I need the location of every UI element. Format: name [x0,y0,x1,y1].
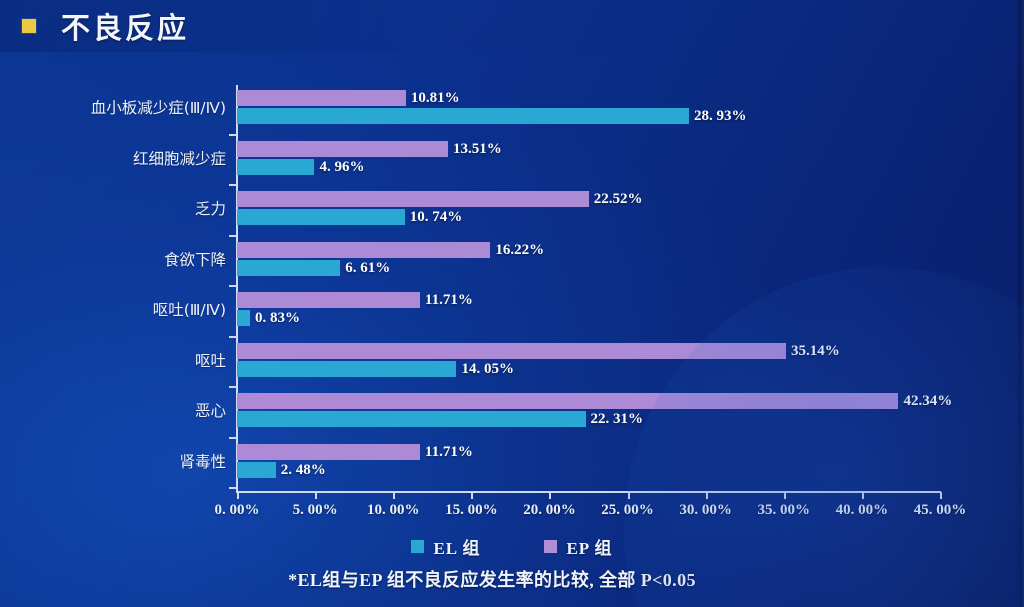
category-label: 肾毒性 [0,450,226,472]
bar-ep [237,141,448,157]
plot-area: 10.81%28. 93%13.51%4. 96%22.52%10. 74%16… [237,86,940,490]
y-axis-tick [229,184,236,186]
legend-label: EP 组 [566,534,612,559]
x-axis-tick-label: 15. 00% [445,502,498,519]
x-axis-tick [940,492,942,499]
bar-value-label: 22. 31% [586,411,644,427]
y-axis-tick [229,134,236,136]
x-axis-line [236,491,941,493]
chart-legend: EL 组EP 组 [0,534,1024,559]
x-axis-tick [471,492,473,499]
presentation-slide: 不良反应 血小板减少症(Ⅲ/Ⅳ)红细胞减少症乏力食欲下降呕吐(Ⅲ/Ⅳ)呕吐恶心肾… [0,0,1024,607]
y-axis-tick [229,437,236,439]
bar-ep [237,191,589,207]
x-axis-tick [784,492,786,499]
bar-value-label: 10. 74% [405,209,463,225]
category-label: 红细胞减少症 [0,147,226,169]
y-axis-tick [229,285,236,287]
bar-ep [237,343,786,359]
bar-value-label: 28. 93% [689,108,747,124]
category-label: 恶心 [0,399,226,421]
bar-value-label: 13.51% [448,141,502,157]
bar-el [237,411,586,427]
x-axis-tick [315,492,317,499]
y-axis-tick [229,487,236,489]
chart-footnote: *EL组与EP 组不良反应发生率的比较, 全部 P<0.05 [0,566,1024,592]
legend-label: EL 组 [433,534,480,559]
legend-item-el[interactable]: EL 组 [411,534,480,559]
bar-value-label: 22.52% [589,191,643,207]
bar-el [237,108,689,124]
bar-el [237,159,314,175]
bar-value-label: 11.71% [420,444,473,460]
slide-right-edge-strip [1017,0,1024,607]
bar-value-label: 10.81% [406,90,460,106]
legend-item-ep[interactable]: EP 组 [544,534,612,559]
x-axis-tick-labels: 0. 00%5. 00%10. 00%15. 00%20. 00%25. 00%… [0,502,1024,526]
x-axis-tick [862,492,864,499]
x-axis-tick-label: 35. 00% [758,502,811,519]
bar-ep [237,393,898,409]
category-label: 食欲下降 [0,248,226,270]
adverse-reactions-bar-chart: 血小板减少症(Ⅲ/Ⅳ)红细胞减少症乏力食欲下降呕吐(Ⅲ/Ⅳ)呕吐恶心肾毒性 10… [0,0,1024,607]
x-axis-tick-label: 30. 00% [679,502,732,519]
category-axis-labels: 血小板减少症(Ⅲ/Ⅳ)红细胞减少症乏力食欲下降呕吐(Ⅲ/Ⅳ)呕吐恶心肾毒性 [0,86,226,490]
y-axis-tick [229,235,236,237]
category-label: 呕吐 [0,349,226,371]
x-axis-tick [628,492,630,499]
bar-ep [237,90,406,106]
bar-value-label: 42.34% [898,393,952,409]
bar-value-label: 14. 05% [456,361,514,377]
x-axis-tick-label: 45. 00% [914,502,967,519]
category-label: 呕吐(Ⅲ/Ⅳ) [0,298,226,320]
bar-ep [237,242,490,258]
x-axis-tick-label: 40. 00% [836,502,889,519]
x-axis-tick-label: 10. 00% [367,502,420,519]
x-axis-tick [549,492,551,499]
legend-swatch-icon [544,540,557,553]
y-axis-tick [229,386,236,388]
bar-el [237,209,405,225]
x-axis-tick [706,492,708,499]
bar-value-label: 11.71% [420,292,473,308]
x-axis-tick [393,492,395,499]
bar-el [237,310,250,326]
y-axis-tick [229,336,236,338]
x-axis-tick-label: 20. 00% [523,502,576,519]
bar-value-label: 16.22% [490,242,544,258]
x-axis-tick [237,492,239,499]
category-label: 血小板减少症(Ⅲ/Ⅳ) [0,96,226,118]
bar-value-label: 35.14% [786,343,840,359]
bar-ep [237,292,420,308]
bar-value-label: 2. 48% [276,462,326,478]
bar-value-label: 4. 96% [314,159,364,175]
legend-swatch-icon [411,540,424,553]
category-label: 乏力 [0,197,226,219]
x-axis-tick-label: 25. 00% [601,502,654,519]
x-axis-tick-label: 5. 00% [293,502,338,519]
x-axis-tick-label: 0. 00% [215,502,260,519]
bar-el [237,361,456,377]
bar-el [237,260,340,276]
bar-value-label: 0. 83% [250,310,300,326]
bar-value-label: 6. 61% [340,260,390,276]
bar-ep [237,444,420,460]
bar-el [237,462,276,478]
